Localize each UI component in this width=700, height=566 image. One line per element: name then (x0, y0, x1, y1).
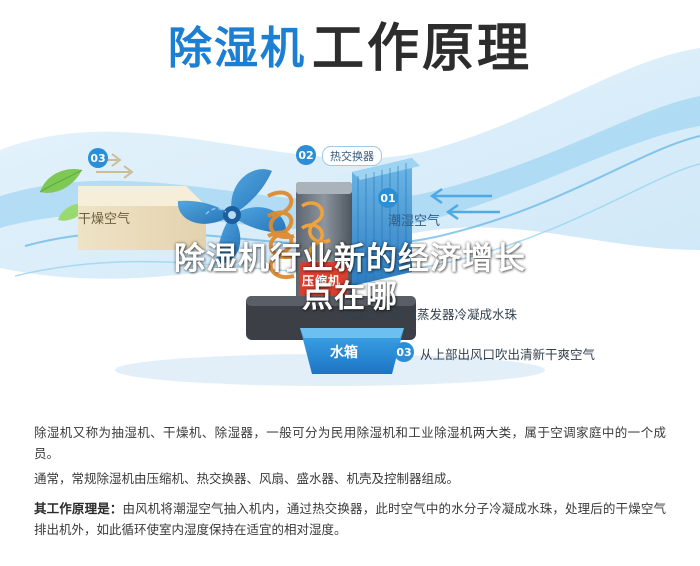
title-main: 工作原理 (312, 14, 532, 84)
badge-01: 01 (378, 188, 398, 208)
label-dry-air: 干燥空气 (78, 208, 130, 227)
badge-03: 03 (394, 342, 414, 362)
badge-02: 02 (296, 145, 316, 165)
hero-title: 除湿机 工作原理 (0, 14, 700, 110)
label-heat-exchanger: 热交换器 (322, 146, 382, 166)
hero-illustration: 除湿机 工作原理 03 干燥空气 02 热交换器 01 潮湿空气 压缩机 水箱 … (0, 0, 700, 404)
article-principle: 其工作原理是：由风机将潮湿空气抽入机内，通过热交换器，此时空气中的水分子冷凝成水… (34, 498, 666, 540)
article-body: 除湿机又称为抽湿机、干燥机、除湿器，一般可分为民用除湿机和工业除湿机两大类，属于… (0, 404, 700, 566)
note-02: 潮湿空气经过蒸发器冷凝成水珠 (342, 304, 517, 323)
article-paragraph-1: 除湿机又称为抽湿机、干燥机、除湿器，一般可分为民用除湿机和工业除湿机两大类，属于… (34, 422, 666, 464)
label-humid-air: 潮湿空气 (388, 210, 440, 229)
title-highlight: 除湿机 (168, 14, 306, 84)
note-03: 从上部出风口吹出清新干爽空气 (420, 344, 595, 363)
page-root: 除湿机 工作原理 03 干燥空气 02 热交换器 01 潮湿空气 压缩机 水箱 … (0, 0, 700, 566)
label-water-tank: 水箱 (330, 342, 358, 362)
principle-label: 其工作原理是： (34, 501, 123, 516)
article-paragraph-2: 通常，常规除湿机由压缩机、热交换器、风扇、盛水器、机壳及控制器组成。 (34, 468, 666, 489)
label-compressor: 压缩机 (302, 272, 341, 289)
principle-text: 由风机将潮湿空气抽入机内，通过热交换器，此时空气中的水分子冷凝成水珠，处理后的干… (34, 501, 666, 537)
badge-03-left: 03 (88, 148, 108, 168)
